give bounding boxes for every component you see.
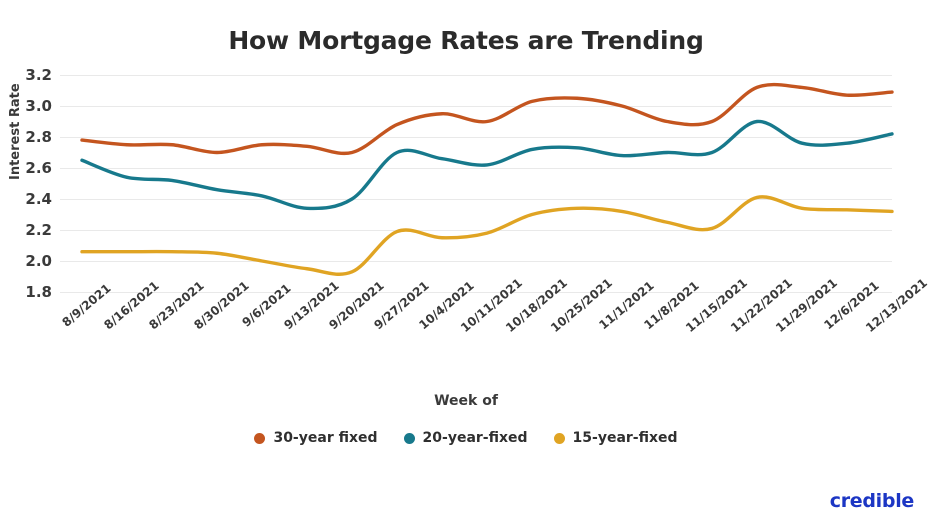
x-axis-ticks: 8/9/20218/16/20218/23/20218/30/20219/6/2… bbox=[82, 300, 892, 390]
y-axis-tick-label: 2.6 bbox=[25, 159, 52, 177]
plot-area: 3.23.02.82.62.42.22.01.8 bbox=[82, 75, 892, 292]
y-axis-tick-label: 2.4 bbox=[25, 190, 52, 208]
legend-dot-icon bbox=[254, 433, 265, 444]
chart-container: How Mortgage Rates are Trending Interest… bbox=[0, 0, 932, 524]
legend-label: 30-year fixed bbox=[273, 430, 377, 446]
y-axis-tick-label: 3.0 bbox=[25, 97, 52, 115]
y-axis-tick-label: 2.2 bbox=[25, 221, 52, 239]
y-axis-title: Interest Rate bbox=[8, 83, 23, 180]
legend-dot-icon bbox=[554, 433, 565, 444]
legend-dot-icon bbox=[404, 433, 415, 444]
series-line-20-year-fixed bbox=[82, 121, 892, 208]
legend-label: 20-year-fixed bbox=[423, 430, 528, 446]
series-line-30-year-fixed bbox=[82, 85, 892, 154]
legend-item-30-year-fixed[interactable]: 30-year fixed bbox=[254, 430, 377, 446]
series-lines bbox=[82, 75, 892, 292]
y-axis-tick-label: 2.8 bbox=[25, 128, 52, 146]
legend-item-20-year-fixed[interactable]: 20-year-fixed bbox=[404, 430, 528, 446]
x-axis-title: Week of bbox=[0, 393, 932, 409]
legend-label: 15-year-fixed bbox=[573, 430, 678, 446]
legend-item-15-year-fixed[interactable]: 15-year-fixed bbox=[554, 430, 678, 446]
chart-legend: 30-year fixed20-year-fixed15-year-fixed bbox=[0, 430, 932, 446]
y-axis-tick-label: 3.2 bbox=[25, 66, 52, 84]
y-axis-tick-label: 2.0 bbox=[25, 252, 52, 270]
page-title: How Mortgage Rates are Trending bbox=[0, 26, 932, 55]
credible-logo: credible bbox=[830, 490, 914, 512]
series-line-15-year-fixed bbox=[82, 197, 892, 274]
y-axis-tick-label: 1.8 bbox=[25, 283, 52, 301]
